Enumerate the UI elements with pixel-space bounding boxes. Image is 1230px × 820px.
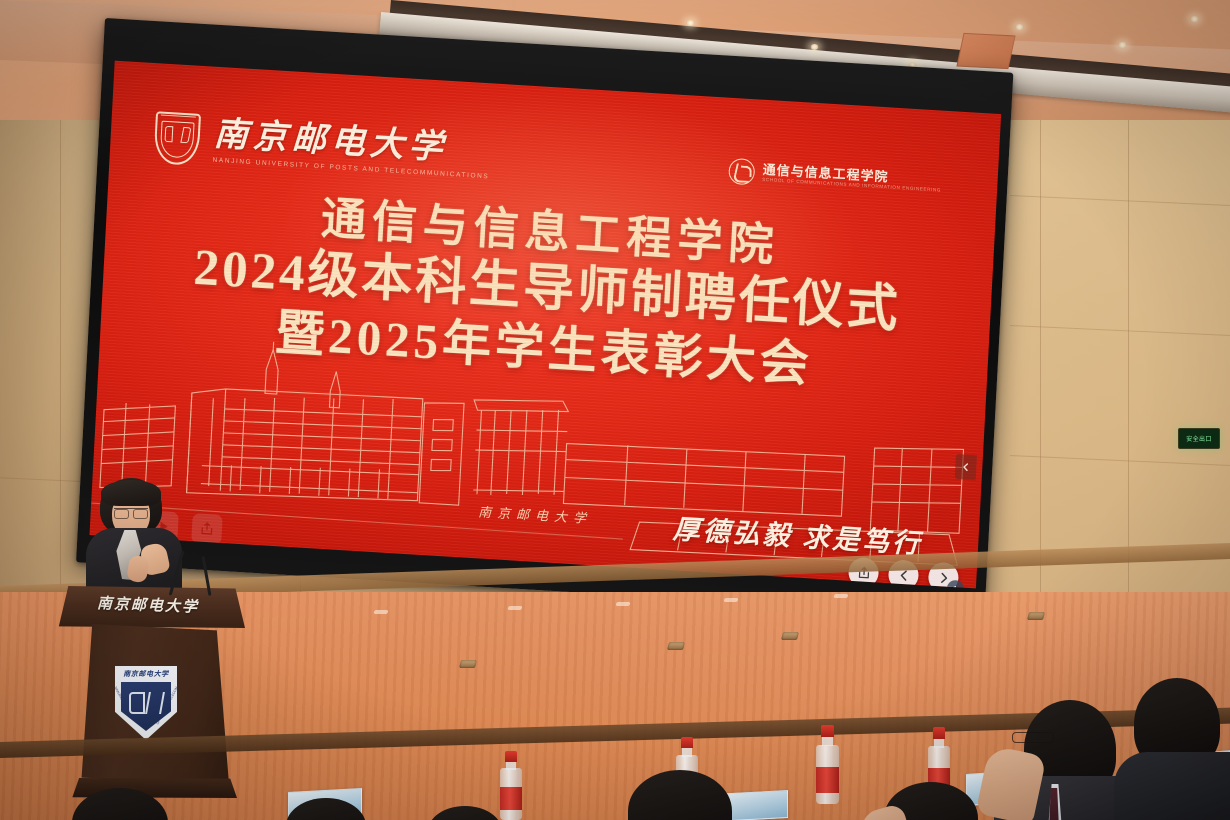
floor-outlet	[667, 642, 685, 650]
njupt-shield-emblem-icon	[153, 111, 201, 166]
auditorium-scene: 安全出口 南京邮电大学 NANJING UNIVERSITY OF POSTS …	[0, 0, 1230, 820]
led-display[interactable]: 南京邮电大学 NANJING UNIVERSITY OF POSTS AND T…	[76, 18, 1013, 617]
downlight	[1015, 24, 1024, 30]
floor-marking	[723, 598, 738, 602]
downlight	[1190, 16, 1199, 22]
collapse-panel-chevron-icon[interactable]	[955, 454, 977, 480]
audience-member	[610, 770, 750, 820]
glasses-icon	[114, 508, 148, 516]
university-logo-block: 南京邮电大学 NANJING UNIVERSITY OF POSTS AND T…	[153, 111, 491, 183]
lectern: 南京邮电大学 南京邮电大学 NANJING UNIVERSITY OF POST…	[55, 586, 245, 802]
floor-marking	[507, 606, 522, 610]
audience-member	[280, 798, 376, 820]
floor-marking	[373, 610, 388, 614]
audience-member	[870, 782, 1000, 820]
njupt-crest-icon: 南京邮电大学 NANJING UNIVERSITY OF POSTS AND T…	[115, 666, 177, 740]
audience-member	[424, 806, 514, 820]
audience-member	[1128, 678, 1230, 820]
ceiling-vent	[956, 33, 1015, 69]
floor-outlet	[459, 660, 477, 668]
floor-marking	[833, 594, 848, 598]
wall-seam	[1128, 38, 1129, 603]
lectern-front-text: 南京邮电大学	[97, 592, 200, 617]
water-bottle	[816, 726, 839, 804]
downlight	[1118, 42, 1127, 48]
floor-marking	[615, 602, 630, 606]
emergency-exit-sign: 安全出口	[1178, 428, 1220, 449]
screen-surface[interactable]: 南京邮电大学 NANJING UNIVERSITY OF POSTS AND T…	[89, 61, 1001, 589]
downlight	[810, 44, 819, 50]
college-circular-emblem-icon	[728, 158, 755, 186]
audience-member	[62, 788, 182, 820]
glasses-icon	[1012, 732, 1054, 743]
floor-outlet	[781, 632, 799, 640]
downlight	[686, 20, 695, 26]
exit-sign-text: 安全出口	[1186, 434, 1212, 443]
college-logo-block: 通信与信息工程学院 SCHOOL OF COMMUNICATIONS AND I…	[728, 158, 942, 197]
share-icon	[191, 513, 223, 545]
floor-outlet	[1027, 612, 1045, 620]
crest-text-cn: 南京邮电大学	[115, 669, 177, 679]
